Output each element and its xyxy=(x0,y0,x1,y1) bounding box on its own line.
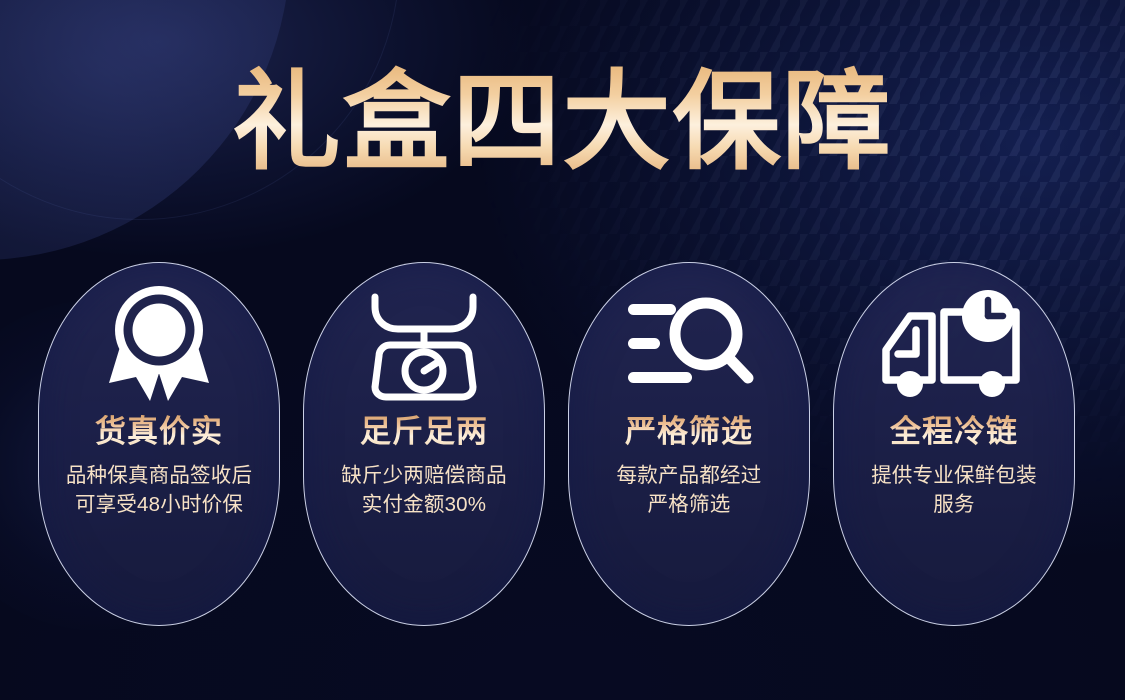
guarantee-card-quanchenglenglian[interactable]: 全程冷链 提供专业保鲜包装 服务 xyxy=(833,262,1075,626)
card-description: 每款产品都经过 严格筛选 xyxy=(586,461,792,519)
guarantee-card-zujinzuliang[interactable]: 足斤足两 缺斤少两赔偿商品 实付金额30% xyxy=(303,262,545,626)
card-title: 足斤足两 xyxy=(360,415,488,449)
card-description-line: 缺斤少两赔偿商品 xyxy=(321,461,527,490)
truck-clock-icon xyxy=(834,263,1074,413)
banner-title: 礼盒四大保障 xyxy=(0,64,1125,181)
guarantee-card-yangeshaixuan[interactable]: 严格筛选 每款产品都经过 严格筛选 xyxy=(568,262,810,626)
card-description-line: 可享受48小时价保 xyxy=(56,490,262,519)
card-description: 缺斤少两赔偿商品 实付金额30% xyxy=(321,461,527,519)
promo-banner: 礼盒四大保障 货真价实 品种保真商品签收后 可享受 xyxy=(0,0,1125,700)
card-description-line: 品种保真商品签收后 xyxy=(56,461,262,490)
card-title: 货真价实 xyxy=(95,415,223,449)
card-description-line: 每款产品都经过 xyxy=(586,461,792,490)
card-description: 品种保真商品签收后 可享受48小时价保 xyxy=(56,461,262,519)
card-description: 提供专业保鲜包装 服务 xyxy=(851,461,1057,519)
filter-magnifier-icon xyxy=(569,263,809,413)
kitchen-scale-icon xyxy=(304,263,544,413)
card-description-line: 提供专业保鲜包装 xyxy=(851,461,1057,490)
card-description-line: 严格筛选 xyxy=(586,490,792,519)
card-description-line: 实付金额30% xyxy=(321,490,527,519)
card-title: 全程冷链 xyxy=(890,415,1018,449)
medal-ribbon-icon xyxy=(39,263,279,413)
card-description-line: 服务 xyxy=(851,490,1057,519)
card-title: 严格筛选 xyxy=(625,415,753,449)
guarantee-card-list: 货真价实 品种保真商品签收后 可享受48小时价保 xyxy=(38,262,1075,626)
guarantee-card-huozhenjiashi[interactable]: 货真价实 品种保真商品签收后 可享受48小时价保 xyxy=(38,262,280,626)
